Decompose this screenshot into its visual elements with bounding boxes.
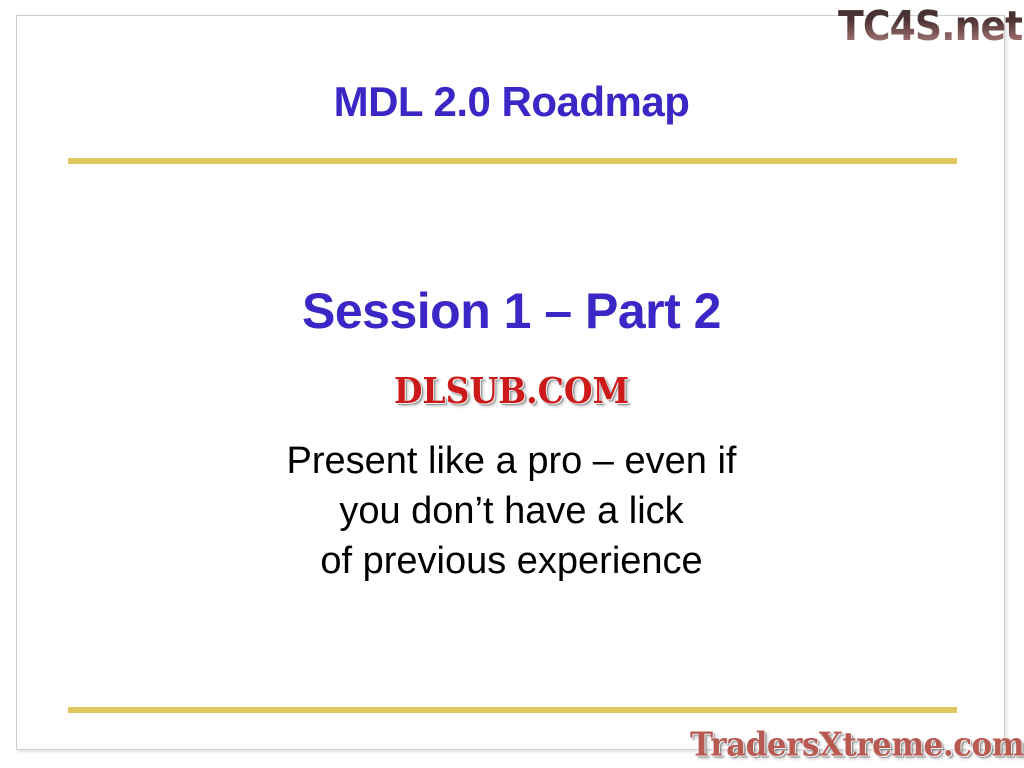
page-title: MDL 2.0 Roadmap <box>17 78 1006 126</box>
body-line-1: Present like a pro – even if <box>17 436 1006 486</box>
slide-body-text: Present like a pro – even if you don’t h… <box>17 436 1006 586</box>
body-line-3: of previous experience <box>17 536 1006 586</box>
divider-top <box>68 158 957 164</box>
divider-bottom <box>68 707 957 713</box>
session-heading: Session 1 – Part 2 <box>17 282 1006 340</box>
watermark-dlsub-text: DLSUB.COM <box>394 369 629 411</box>
watermark-dlsub: DLSUB.COM <box>17 371 1006 410</box>
body-line-2: you don’t have a lick <box>17 486 1006 536</box>
slide-frame: MDL 2.0 Roadmap Session 1 – Part 2 DLSUB… <box>16 15 1005 750</box>
